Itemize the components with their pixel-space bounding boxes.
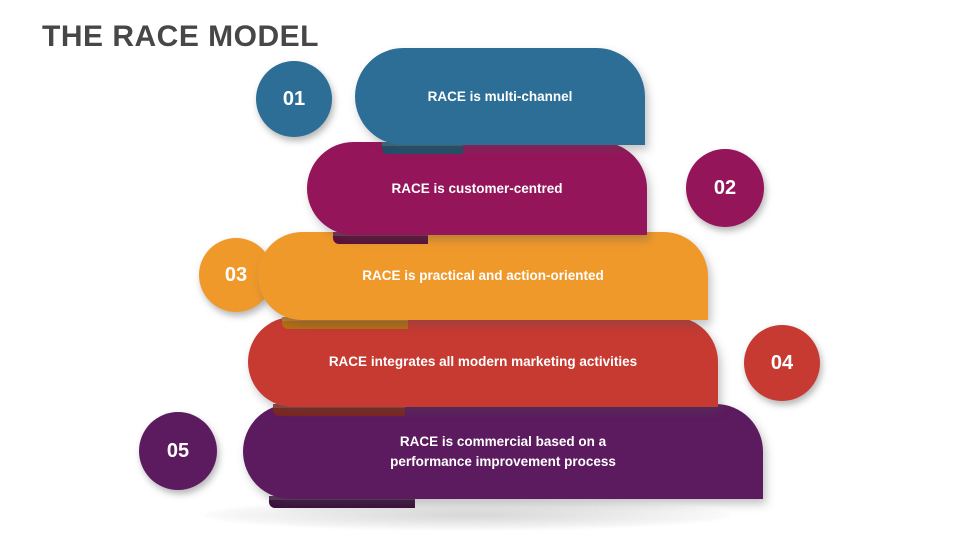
step-3: RACE is practical and action-oriented [258,232,708,320]
step-1-label: RACE is multi-channel [410,87,591,107]
step-4-number-circle[interactable]: 04 [744,325,820,401]
step-2-label: RACE is customer-centred [373,179,580,199]
step-1: RACE is multi-channel [355,48,645,145]
race-model-diagram: RACE is multi-channel 01 RACE is custome… [0,0,960,540]
step-3-number: 03 [225,264,247,287]
step-5-number-circle[interactable]: 05 [139,412,217,490]
step-1-band[interactable]: RACE is multi-channel [355,48,645,145]
step-2-number: 02 [714,177,736,200]
step-4: RACE integrates all modern marketing act… [248,317,718,407]
step-2: RACE is customer-centred [307,142,647,235]
step-1-number-circle[interactable]: 01 [256,61,332,137]
step-2-band[interactable]: RACE is customer-centred [307,142,647,235]
step-1-number: 01 [283,88,305,111]
step-5-label: RACE is commercial based on a performanc… [372,432,634,471]
step-4-number: 04 [771,352,793,375]
step-2-number-circle[interactable]: 02 [686,149,764,227]
step-5-number: 05 [167,440,189,463]
step-3-band[interactable]: RACE is practical and action-oriented [258,232,708,320]
step-4-label: RACE integrates all modern marketing act… [311,352,655,372]
step-3-label: RACE is practical and action-oriented [344,266,622,286]
step-5-band[interactable]: RACE is commercial based on a performanc… [243,404,763,499]
slide-canvas: THE RACE MODEL RACE is multi-channel 01 … [0,0,960,540]
step-5: RACE is commercial based on a performanc… [243,404,763,499]
step-4-band[interactable]: RACE integrates all modern marketing act… [248,317,718,407]
